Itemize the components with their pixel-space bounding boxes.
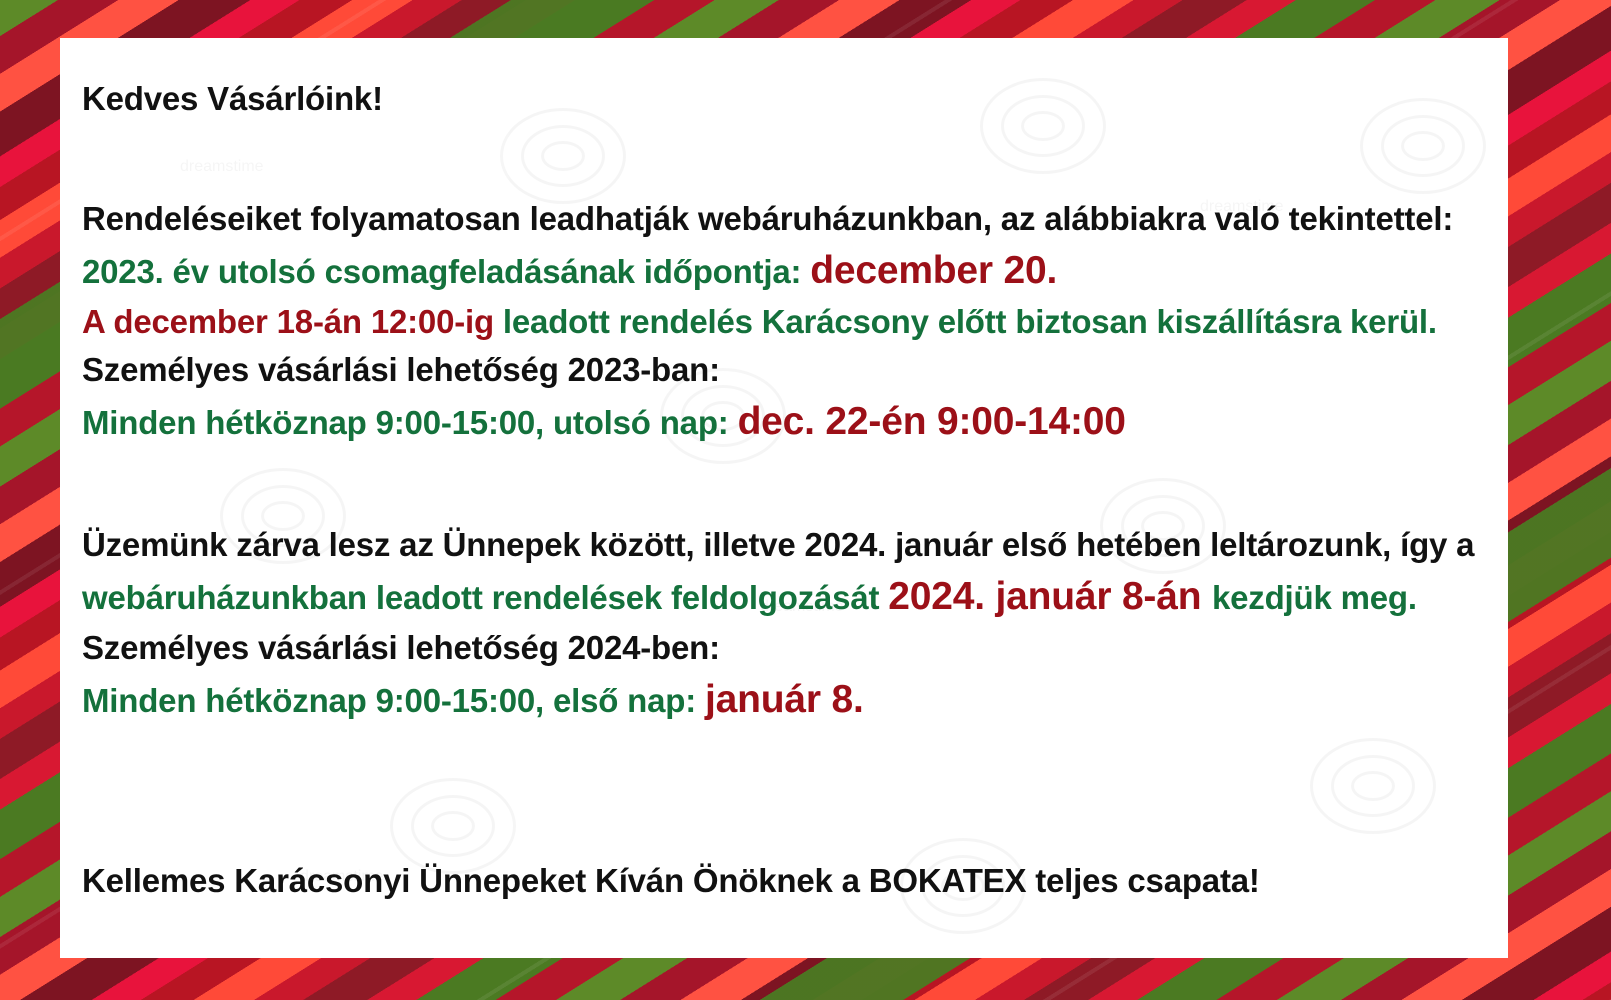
spacer (82, 237, 1478, 251)
processing-restart-suffix: kezdjük meg. (1212, 579, 1417, 616)
processing-restart-prefix: webáruházunkban leadott rendelések feldo… (82, 579, 888, 616)
instore-2023-heading: Személyes vásárlási lehetőség 2023-ban: (82, 353, 1478, 387)
order-cutoff-datetime: A december 18-án 12:00-ig (82, 303, 503, 340)
intro-line: Rendeléseiket folyamatosan leadhatják we… (82, 202, 1478, 236)
spacer (82, 116, 1478, 202)
holiday-notice-poster: dreamstime dreamstime dreamstime dreamst… (0, 0, 1611, 1000)
greeting-line: Kedves Vásárlóink! (82, 82, 1478, 116)
instore-2023-hours-line: Minden hétköznap 9:00-15:00, utolsó nap:… (82, 402, 1478, 443)
processing-restart-date: 2024. január 8-án (888, 575, 1212, 618)
shipping-deadline-label: 2023. év utolsó csomagfeladásának időpon… (82, 253, 810, 290)
spacer (82, 442, 1478, 528)
instore-2023-last-day: dec. 22-én 9:00-14:00 (738, 400, 1126, 443)
spacer (82, 806, 1478, 864)
instore-2024-first-day: január 8. (705, 678, 864, 721)
processing-restart-line: webáruházunkban leadott rendelések feldo… (82, 577, 1478, 618)
spacer (82, 563, 1478, 577)
instore-2024-heading: Személyes vásárlási lehetőség 2024-ben: (82, 631, 1478, 665)
shipping-deadline-line: 2023. év utolsó csomagfeladásának időpon… (82, 251, 1478, 292)
spacer (82, 720, 1478, 806)
instore-2023-weekday-hours: Minden hétköznap 9:00-15:00, utolsó nap: (82, 404, 738, 441)
instore-2024-hours-line: Minden hétköznap 9:00-15:00, első nap: j… (82, 680, 1478, 721)
shipping-deadline-date: december 20. (810, 249, 1057, 292)
order-cutoff-note: leadott rendelés Karácsony előtt biztosa… (503, 303, 1437, 340)
notice-text-body: Kedves Vásárlóink! Rendeléseiket folyama… (60, 38, 1508, 898)
closing-line: Kellemes Karácsonyi Ünnepeket Kíván Önök… (82, 864, 1478, 898)
order-cutoff-line: A december 18-án 12:00-ig leadott rendel… (82, 305, 1478, 339)
white-content-panel: dreamstime dreamstime dreamstime dreamst… (60, 38, 1508, 958)
instore-2024-weekday-hours: Minden hétköznap 9:00-15:00, első nap: (82, 682, 705, 719)
closure-line: Üzemünk zárva lesz az Ünnepek között, il… (82, 528, 1478, 562)
